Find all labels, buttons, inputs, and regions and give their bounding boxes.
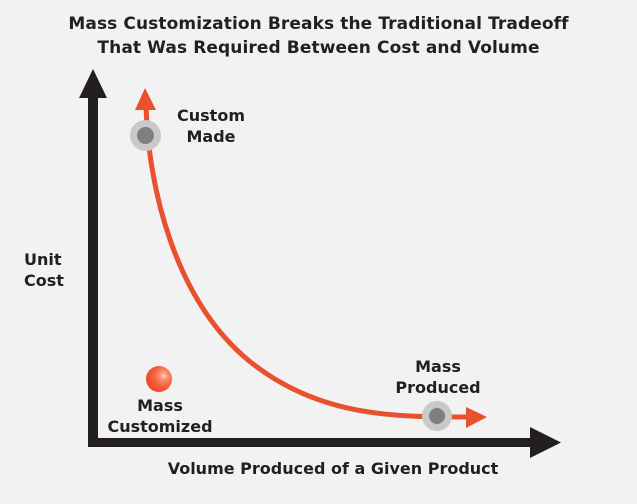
curve-up-arrowhead-icon	[135, 88, 156, 110]
custom-made-label-line-2: Made	[160, 126, 262, 147]
custom-made-label-line-1: Custom	[160, 105, 262, 126]
custom-made-label: Custom Made	[160, 105, 262, 147]
mass-produced-label-line-1: Mass	[384, 356, 492, 377]
y-axis-label: Unit Cost	[24, 249, 86, 291]
x-axis-arrowhead-icon	[530, 427, 561, 458]
y-axis-line	[88, 92, 98, 447]
x-axis-label: Volume Produced of a Given Product	[118, 458, 548, 479]
chart-plot-area	[0, 0, 637, 504]
curve-right-arrowhead-icon	[466, 407, 487, 428]
mass-produced-marker	[429, 408, 445, 424]
mass-customized-label: Mass Customized	[98, 395, 222, 437]
mass-customized-marker	[146, 366, 172, 392]
mass-produced-label: Mass Produced	[384, 356, 492, 398]
y-axis-label-line-2: Cost	[24, 270, 86, 291]
mass-produced-label-line-2: Produced	[384, 377, 492, 398]
x-axis-line	[88, 438, 538, 447]
custom-made-marker	[137, 127, 154, 144]
y-axis-label-line-1: Unit	[24, 249, 86, 270]
mass-customized-label-line-1: Mass	[98, 395, 222, 416]
y-axis-arrowhead-icon	[79, 69, 107, 98]
chart-canvas: Mass Customization Breaks the Traditiona…	[0, 0, 637, 504]
mass-customized-label-line-2: Customized	[98, 416, 222, 437]
